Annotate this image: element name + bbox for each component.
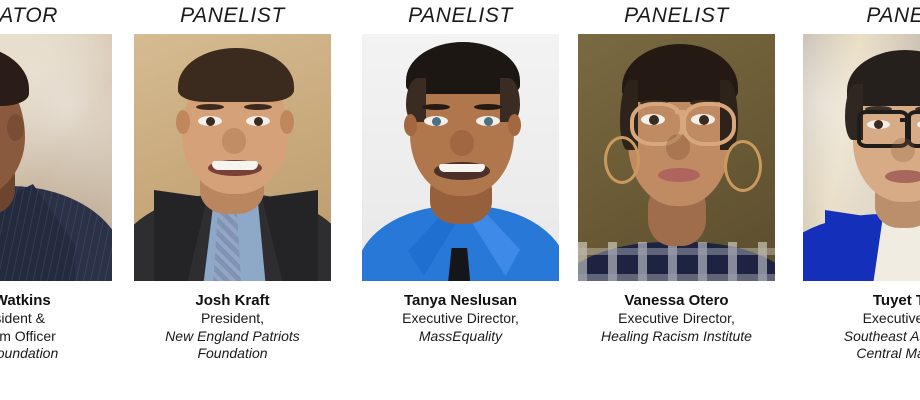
speaker-card: PANELIST: [134, 0, 331, 400]
speaker-organization-line: MassEquality: [362, 328, 559, 346]
speaker-role-label: ERATOR: [0, 0, 112, 31]
speaker-caption: Josh KraftPresident,New England Patriots…: [134, 292, 331, 363]
speaker-organization-line: Healing Racism Institute: [578, 328, 775, 346]
speaker-role-label: PANELIST: [134, 0, 331, 31]
speaker-organization-line: Southeast Asian C: [803, 328, 920, 346]
speaker-card: PANEL: [803, 0, 920, 400]
eyebrow-left: [422, 104, 450, 110]
eyebrow-right: [244, 104, 272, 110]
mouth: [658, 168, 700, 182]
eyeglasses-bridge: [900, 118, 910, 122]
teeth: [212, 161, 258, 170]
speaker-organization-line: Foundation: [134, 345, 331, 363]
nose: [450, 130, 474, 156]
pupil-left: [432, 117, 441, 126]
speaker-title-line: Executive Director,: [362, 310, 559, 328]
speaker-card: PANELIST: [578, 0, 775, 400]
speaker-panel-strip: ERATOR: [0, 0, 920, 400]
speaker-role-label: PANELIST: [578, 0, 775, 31]
speaker-name: Josh Kraft: [134, 292, 331, 310]
teeth: [439, 164, 485, 172]
eyeglasses-right-lens: [682, 102, 736, 146]
speaker-photo: [803, 34, 920, 281]
speaker-photo: [578, 34, 775, 281]
speaker-portrait-art: [134, 34, 331, 281]
eyebrow-right: [474, 104, 502, 110]
speaker-organization-line: Central Massa: [803, 345, 920, 363]
speaker-organization-line: New England Patriots: [134, 328, 331, 346]
speaker-name: Vanessa Otero: [578, 292, 775, 310]
eyeglasses-bridge: [675, 110, 685, 114]
speaker-title-line: President,: [134, 310, 331, 328]
speaker-role-label: PANELIST: [362, 0, 559, 31]
ear: [7, 114, 24, 141]
nose: [891, 138, 915, 162]
speaker-portrait-art: [578, 34, 775, 281]
hoop-earring-left: [604, 136, 640, 184]
top-check-pattern: [578, 242, 775, 281]
speaker-portrait-art: [803, 34, 920, 281]
speaker-photo: [362, 34, 559, 281]
pupil-right: [254, 117, 263, 126]
mouth: [885, 170, 920, 183]
speaker-title-line: Executive Di: [803, 310, 920, 328]
ear-left: [176, 110, 190, 134]
pupil-right: [484, 117, 493, 126]
speaker-card: PANELIST: [362, 0, 559, 400]
speaker-name: lo Watkins: [0, 292, 112, 310]
ear-right: [508, 114, 521, 136]
pupil-left: [206, 117, 215, 126]
nose: [666, 134, 690, 160]
ear-left: [404, 114, 417, 136]
speaker-name: Tanya Neslusan: [362, 292, 559, 310]
speaker-photo: [134, 34, 331, 281]
speaker-title-line: ogram Officer: [0, 328, 112, 346]
hoop-earring-right: [724, 140, 762, 192]
speaker-role-label: PANEL: [803, 0, 920, 31]
nose: [222, 128, 246, 154]
ear-right: [280, 110, 294, 134]
eyebrow-left: [196, 104, 224, 110]
speaker-caption: Tanya NeslusanExecutive Director,MassEqu…: [362, 292, 559, 345]
speaker-caption: Tuyet TrExecutive DiSoutheast Asian CCen…: [803, 292, 920, 363]
speaker-name: Tuyet Tr: [803, 292, 920, 310]
speaker-caption: Vanessa OteroExecutive Director,Healing …: [578, 292, 775, 345]
speaker-title-line: resident &: [0, 310, 112, 328]
speaker-card: ERATOR: [0, 0, 112, 400]
speaker-photo: [0, 34, 112, 281]
speaker-portrait-art: [0, 34, 112, 281]
speaker-portrait-art: [362, 34, 559, 281]
speaker-organization-line: on Foundation: [0, 345, 112, 363]
speaker-caption: lo Watkinsresident &ogram Officeron Foun…: [0, 292, 112, 363]
speaker-title-line: Executive Director,: [578, 310, 775, 328]
